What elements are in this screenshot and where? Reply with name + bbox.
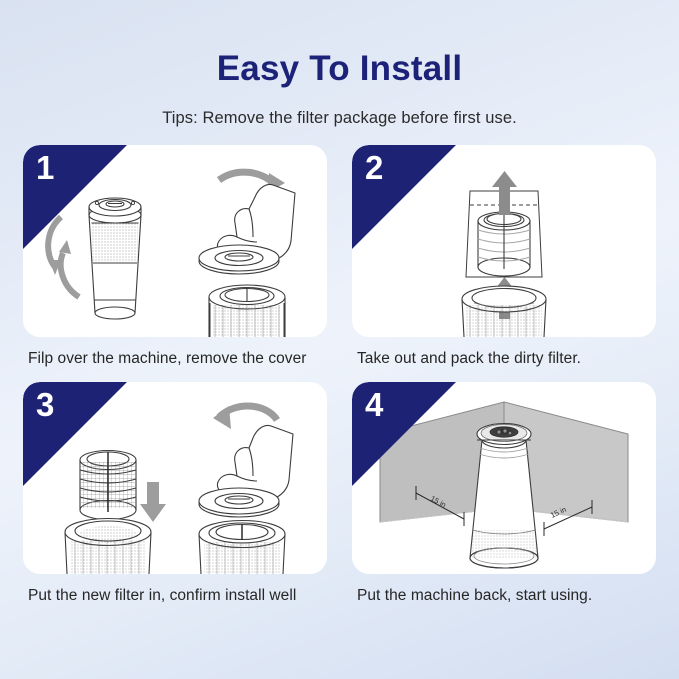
tips-subtitle: Tips: Remove the filter package before f…: [0, 109, 679, 128]
pack-dirty-filter-illustration: [352, 145, 656, 337]
step-caption-2: Take out and pack the dirty filter.: [357, 348, 652, 370]
step-cell-2: 2 Take out and pack the dirty filter.: [352, 145, 656, 370]
step-cell-3: 3 Put the new filter in, confirm install…: [23, 382, 327, 607]
step-cell-1: 1 Filp over the machine, remove the cove…: [23, 145, 327, 370]
step-caption-3: Put the new filter in, confirm install w…: [28, 585, 323, 607]
step-caption-1: Filp over the machine, remove the cover: [28, 348, 323, 370]
step-card-2[interactable]: 2: [352, 145, 656, 337]
flip-machine-remove-cover-illustration: [23, 145, 327, 337]
step-caption-4: Put the machine back, start using.: [357, 585, 652, 607]
step-card-4[interactable]: 15 in 15 in: [352, 382, 656, 574]
place-machine-clearance-illustration: 15 in 15 in: [352, 382, 656, 574]
header: Easy To Install Tips: Remove the filter …: [0, 0, 679, 128]
step-cell-4: 15 in 15 in: [352, 382, 656, 607]
insert-new-filter-illustration: [23, 382, 327, 574]
steps-grid: 1 Filp over the machine, remove the cove…: [23, 145, 656, 607]
page-title: Easy To Install: [0, 50, 679, 89]
step-card-1[interactable]: 1: [23, 145, 327, 337]
step-card-3[interactable]: 3: [23, 382, 327, 574]
